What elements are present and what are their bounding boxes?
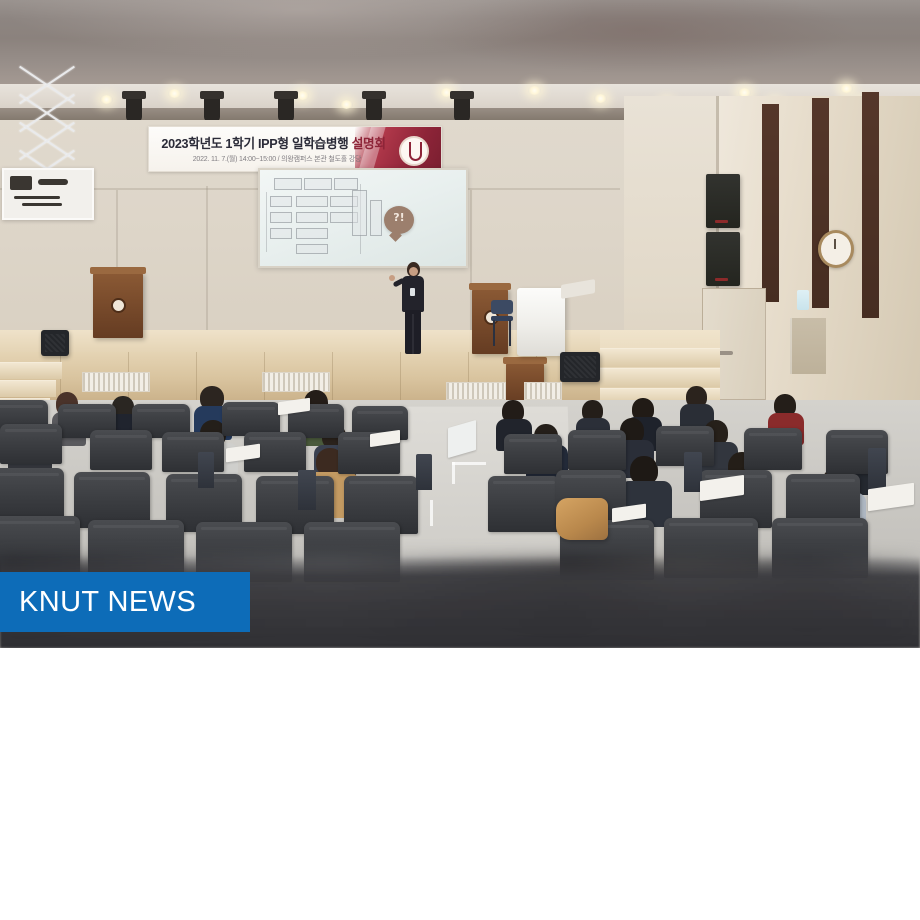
aisle-marking — [452, 462, 455, 484]
presenter — [398, 262, 428, 354]
stage-plank — [196, 352, 197, 404]
seat-armrest — [868, 448, 886, 490]
banner-title-accent: 설명회 — [352, 136, 386, 151]
loudspeaker — [706, 232, 740, 286]
stage-monitor-speaker — [560, 352, 600, 382]
wood-stripe — [812, 98, 829, 308]
wall-dispenser — [797, 290, 809, 310]
folding-chair — [489, 300, 515, 348]
wall-vent — [82, 372, 150, 392]
projector-housing — [2, 168, 94, 220]
auditorium-seat — [504, 434, 562, 474]
ceiling-downlight — [840, 84, 853, 93]
auditorium-seat — [0, 424, 62, 464]
ceiling — [0, 0, 920, 86]
auditorium-seat — [568, 430, 626, 470]
wood-stripe — [762, 104, 779, 302]
stage-spotlight — [204, 96, 220, 122]
seat-armrest — [198, 452, 214, 488]
bubble-text: ?! — [384, 211, 414, 224]
auditorium-seat — [162, 432, 224, 472]
auditorium-seat — [488, 476, 560, 532]
ceiling-downlight — [594, 94, 607, 103]
text-area: T-SAFE사업단, 2023학년도 IPP형 일학습병행 사업 설명회 개최 … — [0, 648, 920, 920]
wall-vent — [446, 382, 506, 400]
white-cabinet — [517, 288, 565, 356]
stage-plank — [332, 352, 333, 404]
stage-spotlight — [126, 96, 142, 122]
coat-on-seat — [556, 498, 608, 540]
news-card: 2023학년도 1학기 IPP형 일학습병행 설명회 2022. 11. 7.(… — [0, 0, 920, 920]
aisle-marking — [452, 462, 486, 465]
banner-title: 2023학년도 1학기 IPP형 일학습병행 설명회 — [161, 133, 386, 152]
stage-spotlight — [454, 96, 470, 122]
aisle-marking — [430, 500, 433, 526]
knut-news-label: KNUT NEWS — [0, 586, 196, 619]
wall-clock-icon — [818, 230, 854, 268]
wall-vent — [524, 382, 562, 400]
knut-news-badge: KNUT NEWS — [0, 572, 250, 632]
speaker-stack — [706, 174, 740, 290]
wall-vent — [262, 372, 330, 392]
auditorium-seat — [744, 428, 802, 470]
seat-armrest — [298, 470, 316, 510]
ceiling-downlight — [100, 95, 113, 104]
auditorium-seat — [0, 468, 64, 522]
wood-stripe — [862, 92, 879, 318]
loudspeaker — [706, 174, 740, 228]
stage-spotlight — [366, 96, 382, 122]
stage-plank — [400, 352, 401, 404]
wall-recess — [790, 318, 826, 374]
banner-title-plain: 2023학년도 1학기 IPP형 일학습병행 — [161, 136, 351, 151]
podium-left — [93, 272, 143, 338]
stage-spotlight — [278, 96, 294, 122]
ceiling-downlight — [168, 89, 181, 98]
speech-bubble-icon: ?! — [384, 206, 414, 234]
ceiling-downlight — [528, 86, 541, 95]
ceiling-downlight — [340, 100, 353, 109]
projection-screen: ?! — [258, 168, 468, 268]
event-banner: 2023학년도 1학기 IPP형 일학습병행 설명회 2022. 11. 7.(… — [148, 126, 442, 172]
auditorium-seat — [222, 402, 280, 436]
news-photo: 2023학년도 1학기 IPP형 일학습병행 설명회 2022. 11. 7.(… — [0, 0, 920, 648]
floor-monitor-speaker — [41, 330, 69, 356]
seat-armrest — [416, 454, 432, 490]
auditorium-seat — [90, 430, 152, 470]
banner-subtitle: 2022. 11. 7.(월) 14:00~15:00 / 의왕캠퍼스 본관 철… — [161, 154, 393, 164]
university-emblem-icon — [399, 136, 429, 166]
